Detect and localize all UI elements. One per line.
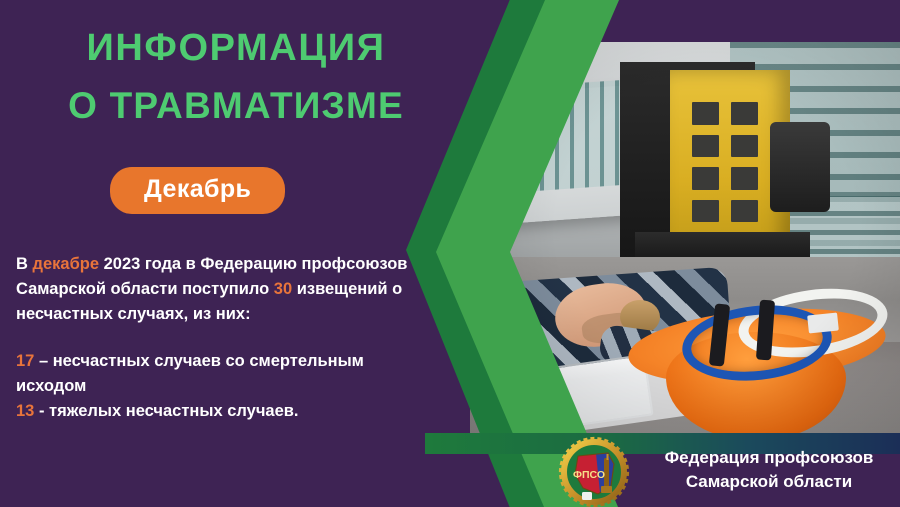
fatal-cases-label: – несчастных случаев со смертельным исхо… — [16, 352, 364, 395]
severe-cases-value: 13 — [16, 402, 34, 420]
paragraph-spacer — [16, 327, 426, 349]
intro-month-highlight: декабре — [33, 255, 100, 273]
title-line-2: О ТРАВМАТИЗМЕ — [36, 77, 436, 134]
intro-text-a: В — [16, 255, 33, 273]
month-badge: Декабрь — [110, 167, 285, 214]
intro-count-highlight: 30 — [274, 280, 292, 298]
organization-name-line-2: Самарской области — [640, 470, 898, 494]
intro-paragraph: В декабре 2023 года в Федерацию профсоюз… — [16, 252, 426, 327]
fpso-emblem-icon: ФПСО — [556, 436, 632, 507]
injury-information-poster: ИНФОРМАЦИЯ О ТРАВМАТИЗМЕ Декабрь В декаб… — [0, 0, 900, 507]
fatal-cases-row: 17 – несчастных случаев со смертельным и… — [16, 349, 426, 399]
fatal-cases-value: 17 — [16, 352, 34, 370]
severe-cases-label: - тяжелых несчастных случаев. — [34, 402, 298, 420]
organization-logo-block: ФПСО Федерация профсоюзов Самарской обла… — [556, 436, 900, 507]
organization-name: Федерация профсоюзов Самарской области — [640, 446, 898, 494]
severe-cases-row: 13 - тяжелых несчастных случаев. — [16, 399, 426, 424]
title-line-1: ИНФОРМАЦИЯ — [36, 20, 436, 77]
emblem-abbreviation: ФПСО — [573, 469, 605, 481]
page-title: ИНФОРМАЦИЯ О ТРАВМАТИЗМЕ — [36, 20, 436, 134]
organization-name-line-1: Федерация профсоюзов — [640, 446, 898, 470]
statistics-body-text: В декабре 2023 года в Федерацию профсоюз… — [16, 252, 426, 424]
